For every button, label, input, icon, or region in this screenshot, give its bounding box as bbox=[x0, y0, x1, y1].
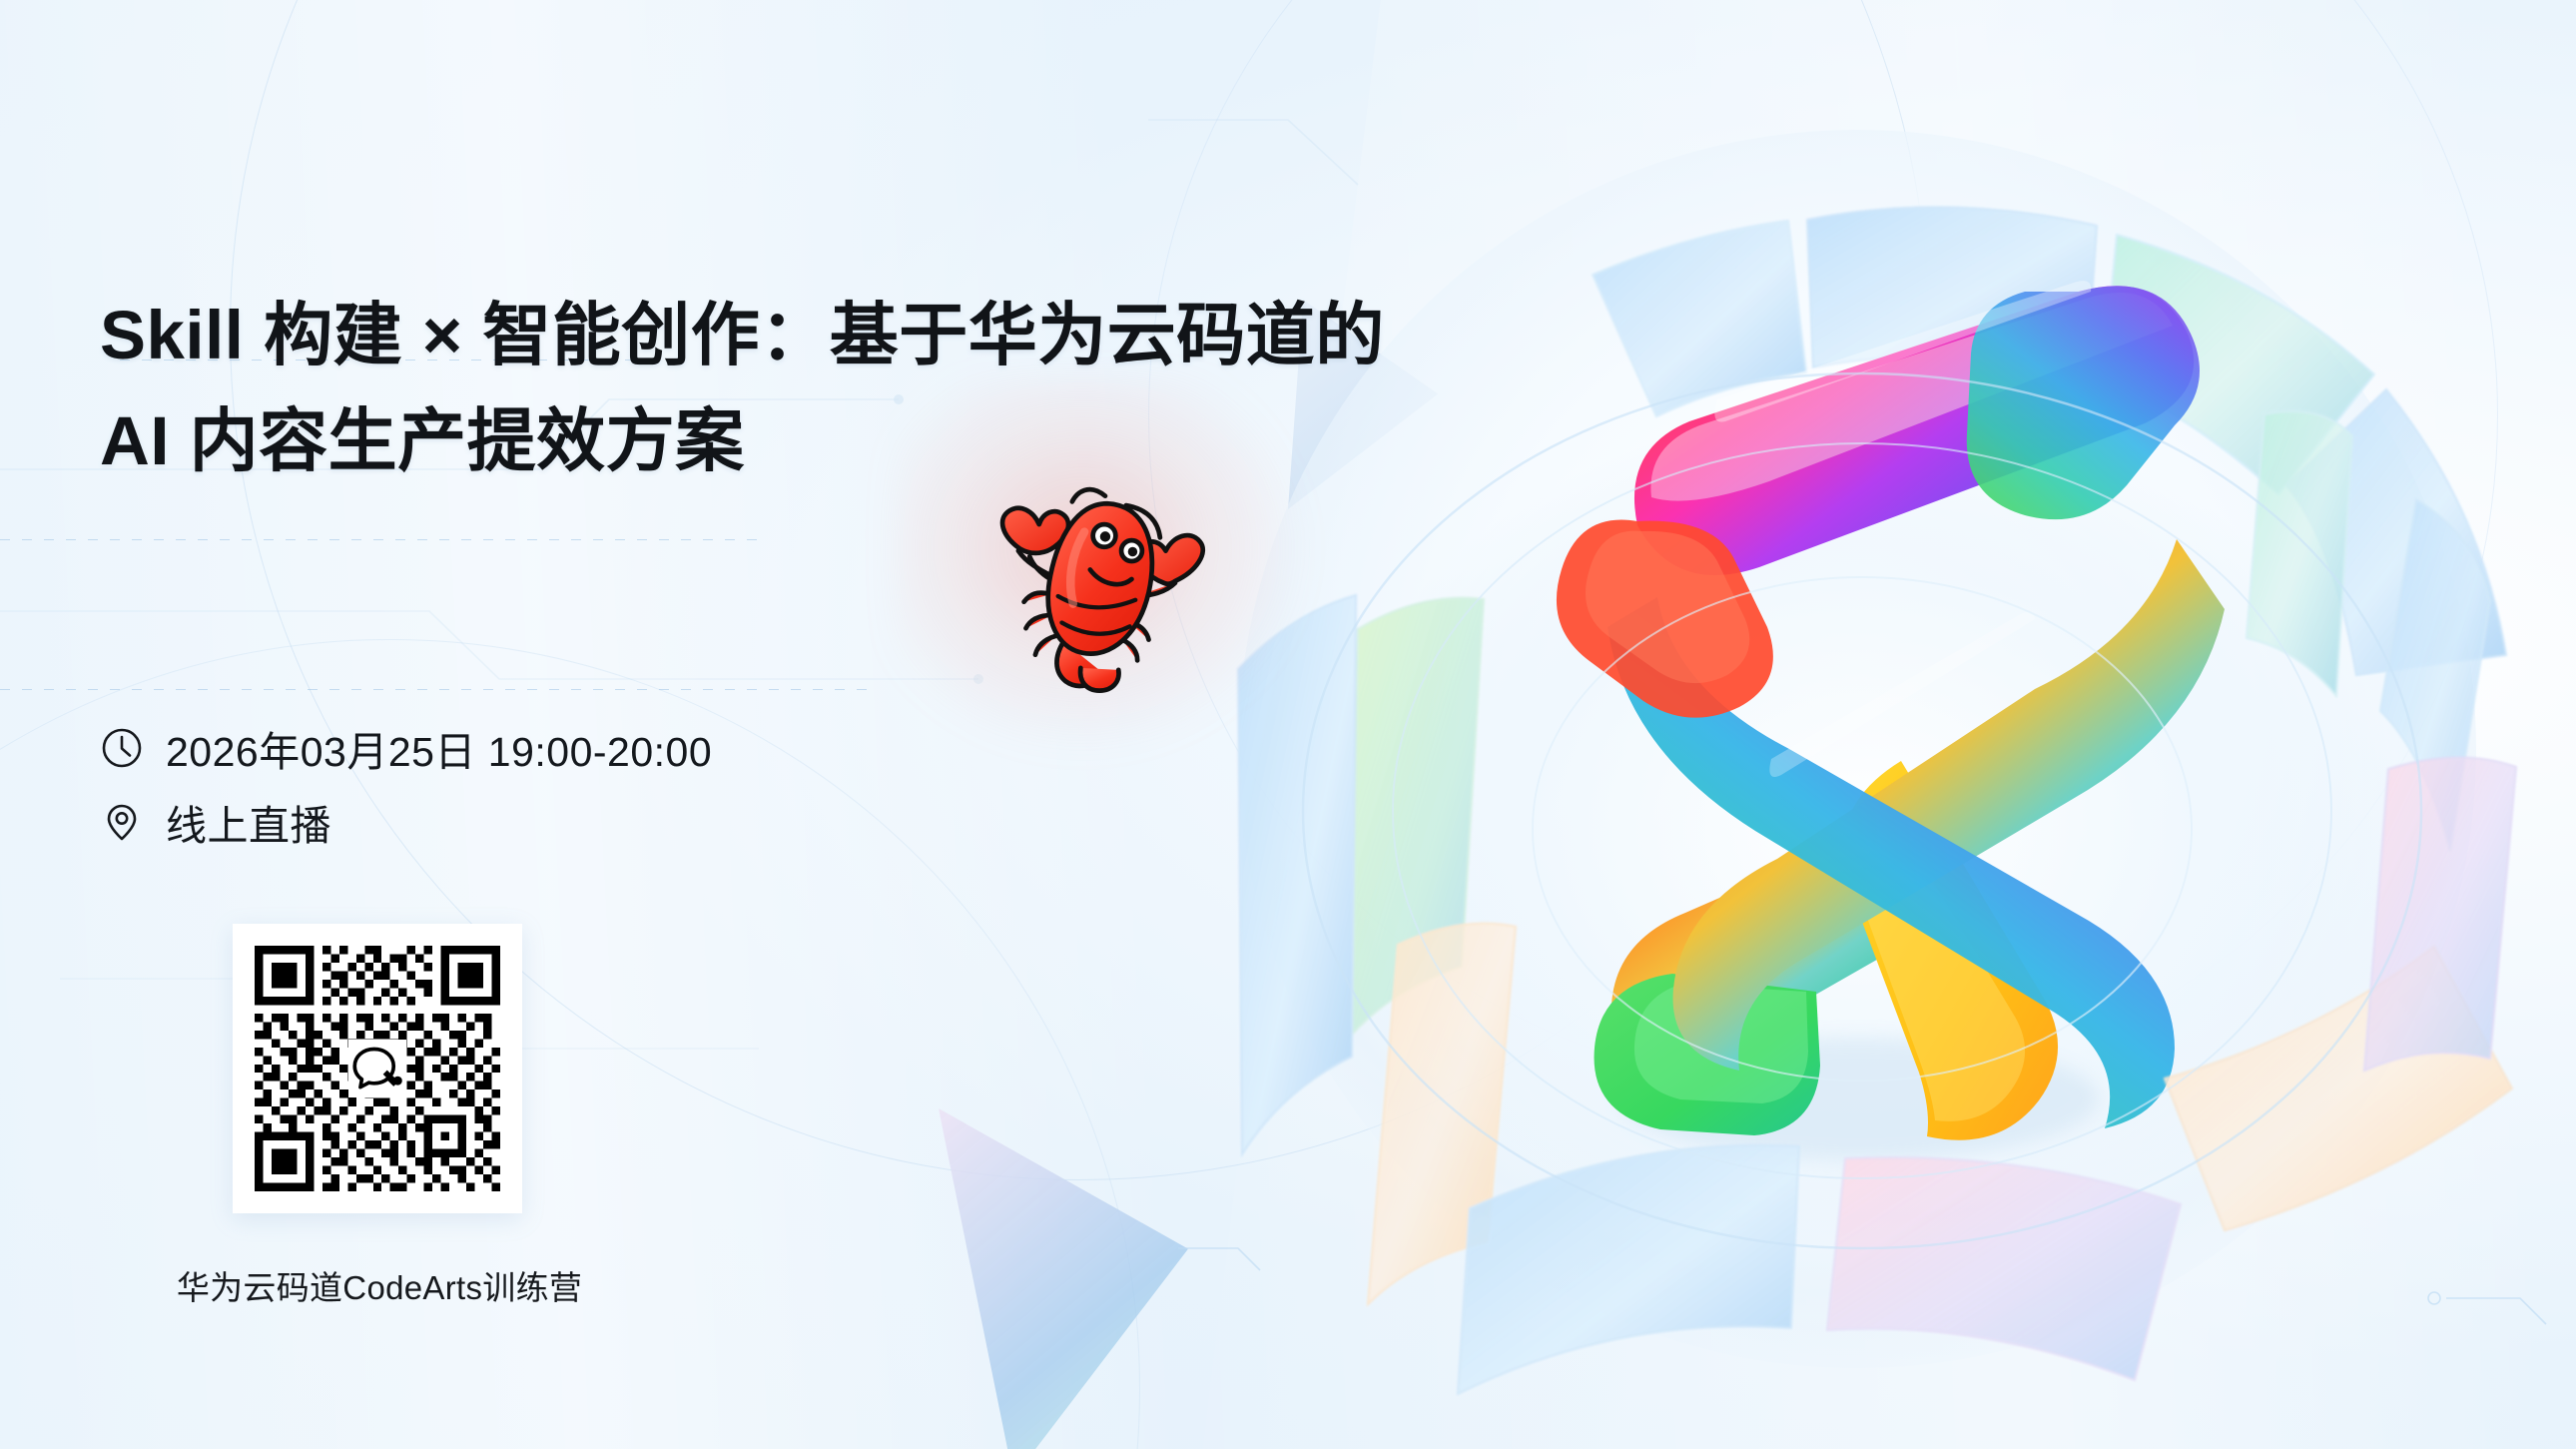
event-location-row: 线上直播 bbox=[100, 785, 712, 859]
qr-code[interactable] bbox=[233, 924, 522, 1213]
qr-canvas bbox=[255, 946, 500, 1191]
wechat-chat-bubble-icon bbox=[351, 1043, 403, 1094]
hero-artwork bbox=[1118, 70, 2576, 1398]
event-time-row: 2026年03月25日 19:00-20:00 bbox=[100, 711, 712, 785]
event-time-text: 2026年03月25日 19:00-20:00 bbox=[166, 718, 712, 778]
lobster-icon bbox=[964, 437, 1228, 702]
title-line-1: Skill 构建 × 智能创作：基于华为云码道的 bbox=[100, 283, 1248, 388]
content-column: Skill 构建 × 智能创作：基于华为云码道的 AI 内容生产提效方案 202… bbox=[0, 0, 1278, 1449]
hero-3d-logo-svg bbox=[1118, 70, 2576, 1398]
lobster-mascot bbox=[964, 437, 1228, 702]
qr-caption: 华为云码道CodeArts训练营 bbox=[150, 1261, 609, 1309]
clock-icon bbox=[100, 726, 144, 770]
qr-center-logo bbox=[348, 1040, 406, 1097]
location-pin-icon bbox=[100, 800, 144, 844]
event-meta: 2026年03月25日 19:00-20:00 线上直播 bbox=[100, 711, 712, 859]
event-location-text: 线上直播 bbox=[166, 792, 331, 852]
event-poster: Skill 构建 × 智能创作：基于华为云码道的 AI 内容生产提效方案 202… bbox=[0, 0, 2576, 1449]
